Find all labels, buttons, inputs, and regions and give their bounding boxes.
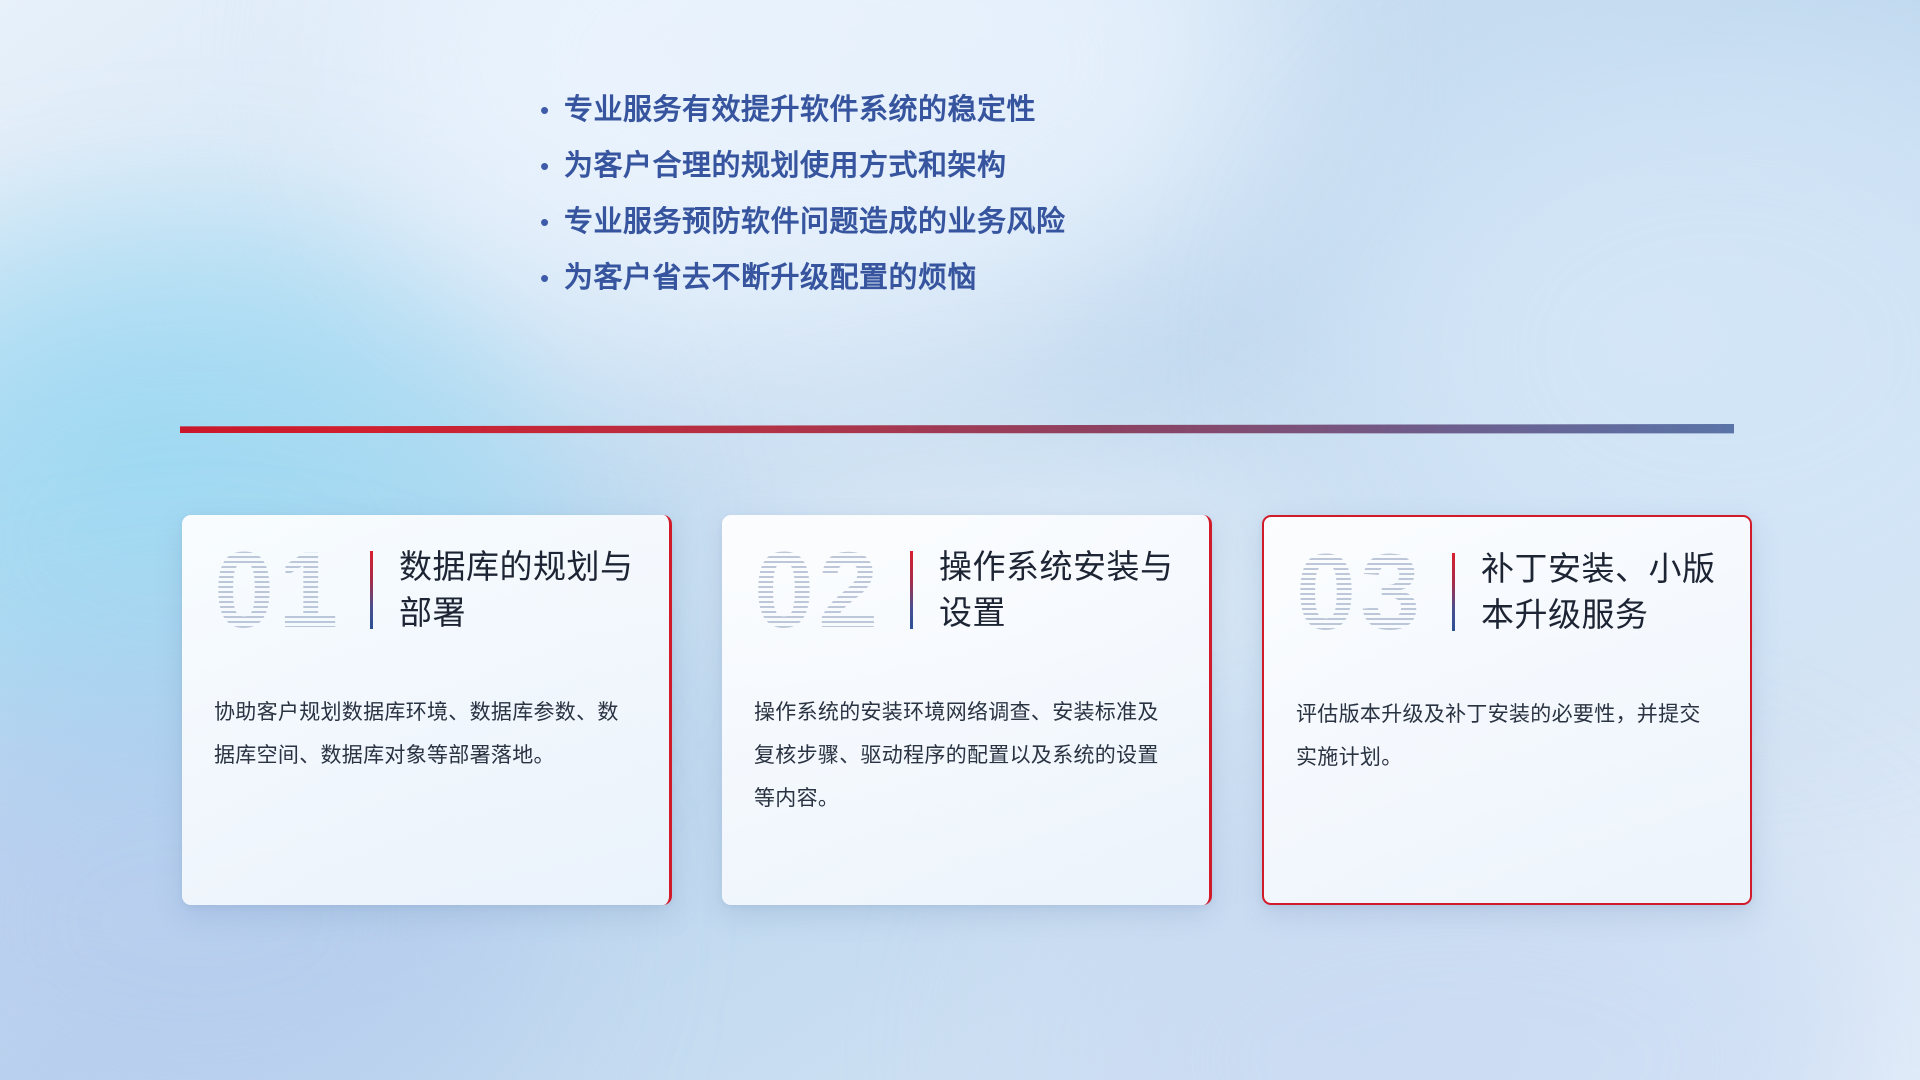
bullet-list: • 专业服务有效提升软件系统的稳定性 • 为客户合理的规划使用方式和架构 • 专… [534,86,1434,310]
card-header: 02 操作系统安装与设置 [722,515,1209,665]
card-number-01: 01 [214,531,364,649]
service-card-01[interactable]: 01 数据库的规划与部署 协助客户规划数据库环境、数据库参数、数据库空间、数据库… [182,515,672,905]
bullet-item: • 专业服务预防软件问题造成的业务风险 [534,198,1434,250]
card-number-02: 02 [754,531,904,649]
card-title-divider [910,551,913,629]
card-title: 操作系统安装与设置 [939,544,1189,636]
card-title: 数据库的规划与部署 [399,544,649,636]
card-title-divider [1452,553,1455,631]
card-title: 补丁安装、小版本升级服务 [1481,546,1731,638]
slide-canvas: • 专业服务有效提升软件系统的稳定性 • 为客户合理的规划使用方式和架构 • 专… [0,0,1920,1080]
bullet-item-label: 专业服务预防软件问题造成的业务风险 [564,198,1066,240]
bullet-marker-icon: • [534,209,564,235]
bullet-item: • 为客户合理的规划使用方式和架构 [534,142,1434,194]
card-description: 协助客户规划数据库环境、数据库参数、数据库空间、数据库对象等部署落地。 [182,665,669,777]
card-header: 03 补丁安装、小版本升级服务 [1264,517,1750,667]
card-number-03: 03 [1296,533,1446,651]
card-description: 评估版本升级及补丁安装的必要性，并提交实施计划。 [1264,667,1750,779]
bullet-item-label: 专业服务有效提升软件系统的稳定性 [564,86,1036,128]
service-card-list: 01 数据库的规划与部署 协助客户规划数据库环境、数据库参数、数据库空间、数据库… [182,515,1762,920]
card-title-divider [370,551,373,629]
bullet-item: • 专业服务有效提升软件系统的稳定性 [534,86,1434,138]
bullet-item: • 为客户省去不断升级配置的烦恼 [534,254,1434,306]
service-card-02[interactable]: 02 操作系统安装与设置 操作系统的安装环境网络调查、安装标准及复核步骤、驱动程… [722,515,1212,905]
service-card-03[interactable]: 03 补丁安装、小版本升级服务 评估版本升级及补丁安装的必要性，并提交实施计划。 [1262,515,1752,905]
card-description: 操作系统的安装环境网络调查、安装标准及复核步骤、驱动程序的配置以及系统的设置等内… [722,665,1209,820]
bullet-marker-icon: • [534,265,564,291]
bullet-marker-icon: • [534,153,564,179]
bullet-marker-icon: • [534,97,564,123]
bullet-item-label: 为客户省去不断升级配置的烦恼 [564,254,977,296]
card-header: 01 数据库的规划与部署 [182,515,669,665]
section-divider [180,424,1734,440]
bullet-item-label: 为客户合理的规划使用方式和架构 [564,142,1007,184]
tapered-gradient-rule-icon [180,424,1734,438]
